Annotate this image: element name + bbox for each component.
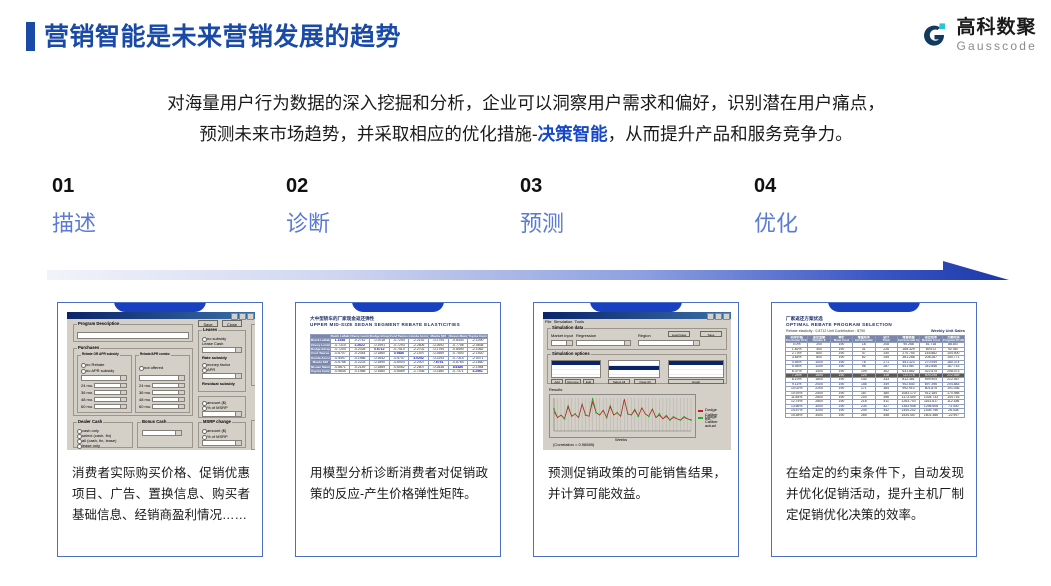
menu-file[interactable]: File xyxy=(545,319,551,324)
table-row: Ford Taurus-0.6707-0.2044-0.18600.9480-2… xyxy=(311,352,488,356)
table-col-header: 返还金额Rebate $ xyxy=(808,336,830,343)
step-04: 04 优化 xyxy=(754,176,954,235)
card-describe[interactable]: Program Description Purchases Rebate OR … xyxy=(57,302,263,557)
table-row: Toyota Camry-0.5645-0.1988-0.1660-0.6589… xyxy=(311,369,488,373)
group-legend: Rebate OR APR subsidy xyxy=(81,352,120,356)
combo-rate-48[interactable] xyxy=(152,397,185,402)
radio-msrp-amount[interactable]: amount ($) xyxy=(202,428,226,433)
page-title: 营销智能是未来营销发展的趋势 xyxy=(44,17,401,53)
table-row: Honda Accord-0.5497-0.1986-0.1642-0.5747… xyxy=(311,356,488,360)
table-col-header: 增量销量Incremental Units Sold xyxy=(897,336,919,343)
correlation-footnote: (Correlation = 0.96589) xyxy=(553,443,594,448)
table-row-header: Mazda 626 xyxy=(311,361,331,365)
combo-msrp[interactable] xyxy=(202,440,242,446)
card-tab-accent xyxy=(590,302,682,312)
title-accent-bar xyxy=(26,22,35,51)
table-cell: 4.2561 xyxy=(468,369,488,373)
combo-rebate[interactable] xyxy=(81,375,127,381)
card-tab-accent xyxy=(828,302,920,312)
logo-name-cn: 高科数聚 xyxy=(956,18,1037,37)
save-button[interactable]: Save xyxy=(700,331,722,337)
window-titlebar xyxy=(67,312,255,319)
step-number: 03 xyxy=(520,176,720,196)
group-legend: Simulation data xyxy=(551,325,584,330)
steps-row: 01 描述 02 诊断 03 预测 04 优化 xyxy=(52,176,1002,246)
table-col-header: Ford Taurus xyxy=(389,335,409,339)
step-03: 03 预测 xyxy=(520,176,720,235)
combo-region[interactable] xyxy=(638,340,700,346)
step-01: 01 描述 xyxy=(52,176,252,235)
table-row: Mazda 626-0.6766-0.2233-0.1890-0.6904-2.… xyxy=(311,361,488,365)
card-diagnose[interactable]: 大中型轿车的厂家现金返还弹性 UPPER MID-SIZE SEDAN SEGM… xyxy=(295,302,501,557)
table-row: Nissan Maxima-0.6671-0.2149-0.1869-0.606… xyxy=(311,365,488,369)
screenshot-thumb-program-form: Program Description Purchases Rebate OR … xyxy=(67,312,255,450)
table-cell: 1601.486 xyxy=(920,413,942,417)
graph-button[interactable]: Graph xyxy=(668,379,724,384)
combo-lease-cash[interactable] xyxy=(202,347,242,353)
menu-tools[interactable]: Tools xyxy=(575,319,584,324)
step-02: 02 诊断 xyxy=(286,176,486,235)
table-row-header: Toyota Camry xyxy=(311,369,331,373)
table-cell: 15.48% xyxy=(786,413,808,417)
table-subtitle: Rebate elasticity : 0.8712 Unit Contribu… xyxy=(786,329,865,333)
radio-not-offered[interactable]: not offered xyxy=(139,365,163,370)
step-label: 优化 xyxy=(754,213,954,235)
card-caption: 在给定的约束条件下，自动发现并优化促销活动，提升主机厂制定促销优化决策的效率。 xyxy=(786,463,964,526)
table-row-header: Chevy Lumina xyxy=(311,343,331,347)
table-row-header: Buick LaSabre xyxy=(311,339,331,343)
group-legend: Simulation options xyxy=(551,351,591,356)
radio-pct-msrp[interactable]: % of MSRP xyxy=(202,405,228,410)
row-label: 60 mo. xyxy=(139,405,151,410)
logo-wordmark: 高科数聚 Gausscode xyxy=(956,18,1037,52)
select-all-button[interactable]: Select All xyxy=(608,379,630,384)
step-label: 描述 xyxy=(52,213,252,235)
table-row: Dodge Intrepid-0.7204-0.20280.6712-0.751… xyxy=(311,347,488,351)
results-label: Results xyxy=(549,388,562,393)
combo-residual[interactable] xyxy=(202,411,242,417)
table-cell: 265 xyxy=(853,413,875,417)
field-label: Lease Cash xyxy=(202,342,223,347)
row-label: 60 mo. xyxy=(81,405,93,410)
lead-line-2-post: ，从而提升产品和服务竞争力。 xyxy=(608,124,853,144)
table-corner-note: Weekly Unit Sales xyxy=(931,329,965,334)
table-cell: -22.997 xyxy=(942,413,964,417)
combo-rate-60[interactable] xyxy=(152,404,185,409)
field-label: Regression xyxy=(576,334,596,339)
row-label: 48 mo. xyxy=(81,398,93,403)
progress-arrow-icon xyxy=(47,258,1012,290)
card-optimize[interactable]: 厂家返还方案优选 OPTIMAL REBATE PROGRAM SELECTIO… xyxy=(771,302,977,557)
lead-paragraph: 对海量用户行为数据的深入挖掘和分析，企业可以洞察用户需求和偏好，识别潜在用户痛点… xyxy=(52,88,1000,150)
table-cell: -0.1988 xyxy=(350,369,370,373)
table-cell: -0.1660 xyxy=(369,369,389,373)
group-legend: Program Description xyxy=(77,321,120,326)
window-controls[interactable] xyxy=(707,313,730,320)
combo-regression[interactable] xyxy=(576,340,631,346)
radio-no-apr-subsidy[interactable]: no APR subsidy xyxy=(81,368,114,373)
card-tab-accent xyxy=(352,302,444,312)
edit-button[interactable]: Edit xyxy=(583,379,594,384)
table-row-header: Nissan Maxima xyxy=(311,365,331,369)
step-number: 02 xyxy=(286,176,486,196)
close-button[interactable]: Close xyxy=(222,320,242,327)
table-row-header: Dodge Intrepid xyxy=(311,347,331,351)
table-row-header: Ford Taurus xyxy=(311,352,331,356)
menu-bar[interactable]: File Simulation Tools xyxy=(545,320,584,325)
step-label: 预测 xyxy=(520,213,720,235)
group-legend: Rebate/APR combo xyxy=(139,352,171,356)
step-label: 诊断 xyxy=(286,213,486,235)
group-legend: MSRP change xyxy=(202,419,232,424)
radio-msrp-pct[interactable]: % of MSRP xyxy=(202,434,228,439)
row-label: 24 mo. xyxy=(81,384,93,389)
forecast-plot xyxy=(549,394,696,438)
table-col-header: 实际价格Customer Price xyxy=(786,336,808,343)
radio-no-rebate[interactable]: no Rebate xyxy=(81,362,104,367)
group-legend: Bonus Cash xyxy=(141,419,167,424)
screenshot-thumb-forecast: File Simulation Tools Simulation data Ma… xyxy=(543,312,731,450)
add-button[interactable]: Add xyxy=(551,379,563,384)
clear-all-button[interactable]: Clear All xyxy=(634,379,656,384)
brand-logo: 高科数聚 Gausscode xyxy=(919,18,1037,52)
optimal-rebate-table: 实际价格Customer Price返还金额Rebate $单价Base Cos… xyxy=(785,335,965,418)
field-label: Region xyxy=(638,334,651,339)
table-cell: 190 xyxy=(830,413,852,417)
group-legend: Purchases xyxy=(77,345,100,350)
table-cell: 1534.457 xyxy=(897,413,919,417)
window-titlebar xyxy=(543,312,731,319)
table-title-en: UPPER MID-SIZE SEDAN SEGMENT REBATE ELAS… xyxy=(310,322,460,327)
table-col-header: Buick LaSabre xyxy=(330,335,350,339)
group-legend: Dealer Cash xyxy=(77,419,103,424)
table-row: Chevy Lumina-0.73102.2622-0.1991-0.7293-… xyxy=(311,343,488,347)
table-cell: 3400 xyxy=(808,413,830,417)
table-col-header: 返还成本Rebate Cost xyxy=(920,336,942,343)
table-row: 15.48%34001902654581534.4571601.486-22.9… xyxy=(786,413,965,417)
save-button[interactable]: Save xyxy=(198,320,218,327)
table-cell: -0.5645 xyxy=(330,369,350,373)
table-col-header: 单价Base Cost xyxy=(830,336,852,343)
lead-highlight: 决策智能 xyxy=(538,124,608,144)
table-cell: -0.7371 xyxy=(448,369,468,373)
legend-swatch-actual xyxy=(698,417,703,419)
combo-combo[interactable] xyxy=(139,375,185,381)
field-label: Market input xyxy=(551,334,573,339)
combo-rate-24[interactable] xyxy=(152,383,185,388)
table-row-header: Honda Accord xyxy=(311,356,331,360)
row-label: 36 mo. xyxy=(139,391,151,396)
card-caption: 消费者实际购买价格、促销优惠项目、广告、置换信息、购买者基础信息、经销商盈利情况… xyxy=(72,463,250,526)
combo-60mo[interactable] xyxy=(94,404,127,409)
radio-apr[interactable]: APR xyxy=(202,367,215,372)
subgroup-label: Residual subsidy xyxy=(202,382,235,387)
radio-lease-only[interactable]: lease only xyxy=(77,443,100,448)
subgroup-label: Rate subsidy xyxy=(202,356,227,361)
table-cell: -0.6589 xyxy=(389,369,409,373)
step-number: 04 xyxy=(754,176,954,196)
list-outputs[interactable] xyxy=(668,360,724,378)
table-title-en: OPTIMAL REBATE PROGRAM SELECTION xyxy=(786,322,892,327)
legend-label-actual: Dodge Caliber actual xyxy=(705,415,718,429)
screenshot-thumb-optimal-rebate: 厂家返还方案优选 OPTIMAL REBATE PROGRAM SELECTIO… xyxy=(781,312,969,450)
logo-name-en: Gausscode xyxy=(956,40,1037,52)
combo-48mo[interactable] xyxy=(94,397,127,402)
table-col-header: Toyota Camry xyxy=(468,335,488,339)
load-case-button[interactable]: Load Case xyxy=(668,331,690,337)
remove-button[interactable]: Remove xyxy=(565,379,581,384)
row-label: 36 mo. xyxy=(81,391,93,396)
lead-line-2-pre: 预测未来市场趋势，并采取相应的优化措施- xyxy=(199,124,537,144)
slide-header: 营销智能是未来营销发展的趋势 高科数聚 Gausscode xyxy=(0,0,1051,68)
card-predict[interactable]: File Simulation Tools Simulation data Ma… xyxy=(533,302,739,557)
card-tab-accent xyxy=(114,302,206,312)
combo-bonus-cash[interactable] xyxy=(142,430,182,436)
table-col-header: Chevy Lumina xyxy=(350,335,370,339)
card-caption: 用模型分析诊断消费者对促销政策的反应-产生价格弹性矩阵。 xyxy=(310,463,488,505)
table-cell: -1.7436 xyxy=(409,369,429,373)
combo-36mo[interactable] xyxy=(94,390,127,395)
table-col-header: 增量成本Incremental xyxy=(853,336,875,343)
table-col-header: Honda Accord xyxy=(409,335,429,339)
table-col-header: Mazda 626 xyxy=(428,335,448,339)
step-number: 01 xyxy=(52,176,252,196)
elasticity-matrix-table: Buick LaSabreChevy LuminaDodge IntrepidF… xyxy=(310,334,488,374)
table-col-header: Dodge Intrepid xyxy=(369,335,389,339)
cards-row: Program Description Purchases Rebate OR … xyxy=(0,296,1051,566)
lead-line-1: 对海量用户行为数据的深入挖掘和分析，企业可以洞察用户需求和偏好，识别潜在用户痛点… xyxy=(167,93,885,113)
window-controls[interactable] xyxy=(231,313,254,320)
logo-mark-icon xyxy=(919,20,949,50)
list-models[interactable] xyxy=(608,360,660,378)
table-row: Buick LaSabre1.1548-0.2742-0.2018-0.7254… xyxy=(311,339,488,343)
screenshot-thumb-elasticity-matrix: 大中型轿车的厂家现金返还弹性 UPPER MID-SIZE SEDAN SEGM… xyxy=(305,312,493,450)
legend-swatch-est xyxy=(698,410,703,412)
combo-market-input[interactable] xyxy=(551,340,573,346)
table-col-header: 总计Total xyxy=(875,336,897,343)
table-col-header: 方案利润Program Profit xyxy=(942,336,964,343)
table-col-header: Nissan Maxima xyxy=(448,335,468,339)
axis-label-x: Weeks xyxy=(615,438,627,443)
combo-rate-36[interactable] xyxy=(152,390,185,395)
table-cell: -0.2380 xyxy=(428,369,448,373)
row-label: 24 mo. xyxy=(139,384,151,389)
card-caption: 预测促销政策的可能销售结果，并计算可能效益。 xyxy=(548,463,726,505)
menu-simulation[interactable]: Simulation xyxy=(554,319,573,324)
list-sim-options[interactable] xyxy=(551,360,601,378)
table-cell: 458 xyxy=(875,413,897,417)
combo-24mo[interactable] xyxy=(94,383,127,388)
slide-root: 营销智能是未来营销发展的趋势 高科数聚 Gausscode 对海量用户行为数据的… xyxy=(0,0,1051,586)
row-label: 48 mo. xyxy=(139,398,151,403)
combo-rate-subsidy[interactable] xyxy=(202,373,242,379)
